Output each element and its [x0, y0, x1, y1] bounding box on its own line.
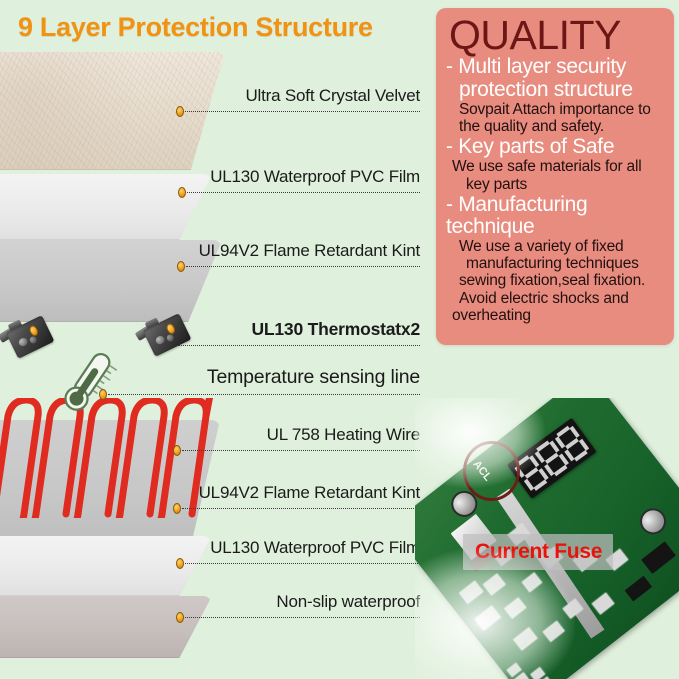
seven-segment-display — [507, 418, 596, 499]
fuse-highlight-circle — [463, 441, 520, 501]
thermometer-icon — [52, 344, 122, 424]
callout-label-knit-top: UL94V2 Flame Retardant Kint — [199, 241, 420, 261]
callout-label-pvc-top: UL130 Waterproof PVC Film — [210, 167, 420, 187]
quality-point-2-sub-line1: We use safe materials for all — [446, 158, 664, 175]
callout-dot-heating-wire — [173, 445, 181, 456]
quality-point-2-sub-line2: key parts — [446, 176, 664, 193]
quality-point-3-sub-line4: Avoid electric shocks and — [446, 290, 664, 307]
pcb-screw-bottom — [638, 506, 669, 537]
callout-label-sensor: Temperature sensing line — [207, 366, 420, 389]
quality-panel: QUALITY - Multi layer security protectio… — [436, 8, 674, 345]
callout-dot-sensor — [99, 389, 107, 400]
quality-point-3-sub-line1: We use a variety of fixed — [446, 238, 664, 255]
layer-slab-pvc-top — [0, 174, 212, 240]
callout-label-nonslip: Non-slip waterproof — [276, 592, 420, 612]
callout-dot-knit-bottom — [173, 503, 181, 514]
callout-dot-knit-top — [177, 261, 185, 272]
callout-label-knit-bottom: UL94V2 Flame Retardant Kint — [199, 483, 420, 503]
quality-point-3-sub-line3: sewing fixation,seal fixation. — [446, 272, 664, 289]
callout-dot-velvet — [176, 106, 184, 117]
callout-label-pvc-bottom: UL130 Waterproof PVC Film — [210, 538, 420, 558]
quality-point-1-head-line1: - Multi layer security — [446, 56, 664, 78]
callout-label-heating-wire: UL 758 Heating Wire — [267, 425, 420, 445]
callout-dot-nonslip — [176, 612, 184, 623]
quality-point-2: - Key parts of Safe We use safe material… — [446, 136, 664, 193]
current-fuse-label: Current Fuse — [463, 534, 613, 570]
page-title: 9 Layer Protection Structure — [18, 12, 373, 43]
quality-point-1-sub-line2: the quality and safety. — [446, 118, 664, 135]
callout-dot-pvc-top — [178, 187, 186, 198]
quality-point-1: - Multi layer security protection struct… — [446, 56, 664, 135]
quality-point-2-head-line1: - Key parts of Safe — [446, 136, 664, 158]
quality-point-1-head-line2: protection structure — [446, 79, 664, 101]
callout-label-thermostat: UL130 Thermostatx2 — [251, 319, 420, 340]
quality-point-3-sub-line2: manufacturing techniques — [446, 255, 664, 272]
quality-point-3-head-line1: - Manufacturing technique — [446, 194, 664, 238]
layer-slab-knit-top — [0, 240, 222, 322]
quality-point-3-sub-line5: overheating — [446, 307, 664, 324]
layer-slab-nonslip — [0, 596, 212, 658]
callout-label-velvet: Ultra Soft Crystal Velvet — [245, 86, 420, 106]
quality-point-3: - Manufacturing technique We use a varie… — [446, 194, 664, 324]
quality-heading: QUALITY — [449, 16, 664, 55]
pcb-photo: ACL — [415, 398, 679, 679]
quality-point-1-sub-line1: Sovpait Attach importance to — [446, 101, 664, 118]
callout-dot-pvc-bottom — [176, 558, 184, 569]
infographic-canvas: 9 Layer Protection Structure — [0, 0, 679, 679]
